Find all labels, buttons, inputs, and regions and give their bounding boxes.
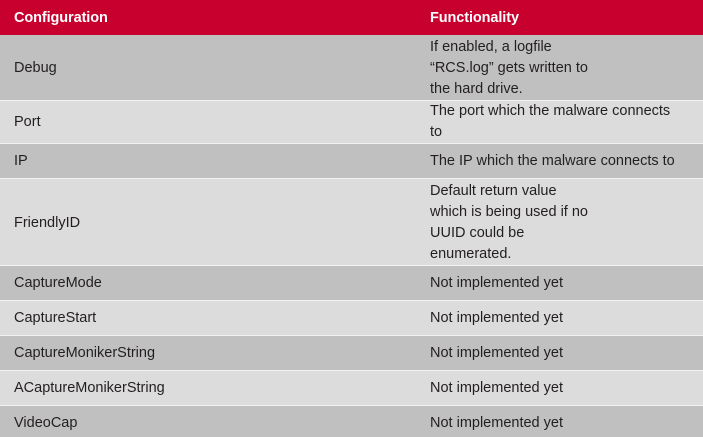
cell-configuration: IP (0, 144, 208, 179)
cell-configuration: Port (0, 101, 208, 144)
table-row: FriendlyIDDefault return value which is … (0, 179, 703, 266)
table-row: DebugIf enabled, a logfile “RCS.log” get… (0, 35, 703, 101)
table-header-row: Configuration Functionality (0, 0, 703, 35)
cell-functionality: Default return value which is being used… (208, 179, 703, 266)
cell-functionality: Not implemented yet (208, 406, 703, 437)
table-row: VideoCapNot implemented yet (0, 406, 703, 437)
table-row: CaptureMonikerStringNot implemented yet (0, 336, 703, 371)
cell-configuration: Debug (0, 35, 208, 101)
cell-configuration: CaptureStart (0, 301, 208, 336)
cell-functionality: Not implemented yet (208, 301, 703, 336)
column-header-functionality: Functionality (208, 0, 703, 35)
cell-functionality: The IP which the malware connects to (208, 144, 703, 179)
cell-functionality: Not implemented yet (208, 336, 703, 371)
cell-configuration: ACaptureMonikerString (0, 371, 208, 406)
cell-functionality: Not implemented yet (208, 371, 703, 406)
table-row: CaptureStartNot implemented yet (0, 301, 703, 336)
table-row: CaptureModeNot implemented yet (0, 266, 703, 301)
column-header-configuration: Configuration (0, 0, 208, 35)
table-body: DebugIf enabled, a logfile “RCS.log” get… (0, 35, 703, 437)
configuration-table-container: Configuration Functionality DebugIf enab… (0, 0, 703, 437)
cell-configuration: FriendlyID (0, 179, 208, 266)
cell-configuration: CaptureMonikerString (0, 336, 208, 371)
table-header: Configuration Functionality (0, 0, 703, 35)
cell-configuration: VideoCap (0, 406, 208, 437)
table-row: ACaptureMonikerStringNot implemented yet (0, 371, 703, 406)
cell-functionality: Not implemented yet (208, 266, 703, 301)
cell-functionality: If enabled, a logfile “RCS.log” gets wri… (208, 35, 703, 101)
table-row: IPThe IP which the malware connects to (0, 144, 703, 179)
configuration-table: Configuration Functionality DebugIf enab… (0, 0, 703, 437)
cell-configuration: CaptureMode (0, 266, 208, 301)
table-row: PortThe port which the malware connects … (0, 101, 703, 144)
cell-functionality: The port which the malware connects to (208, 101, 703, 144)
